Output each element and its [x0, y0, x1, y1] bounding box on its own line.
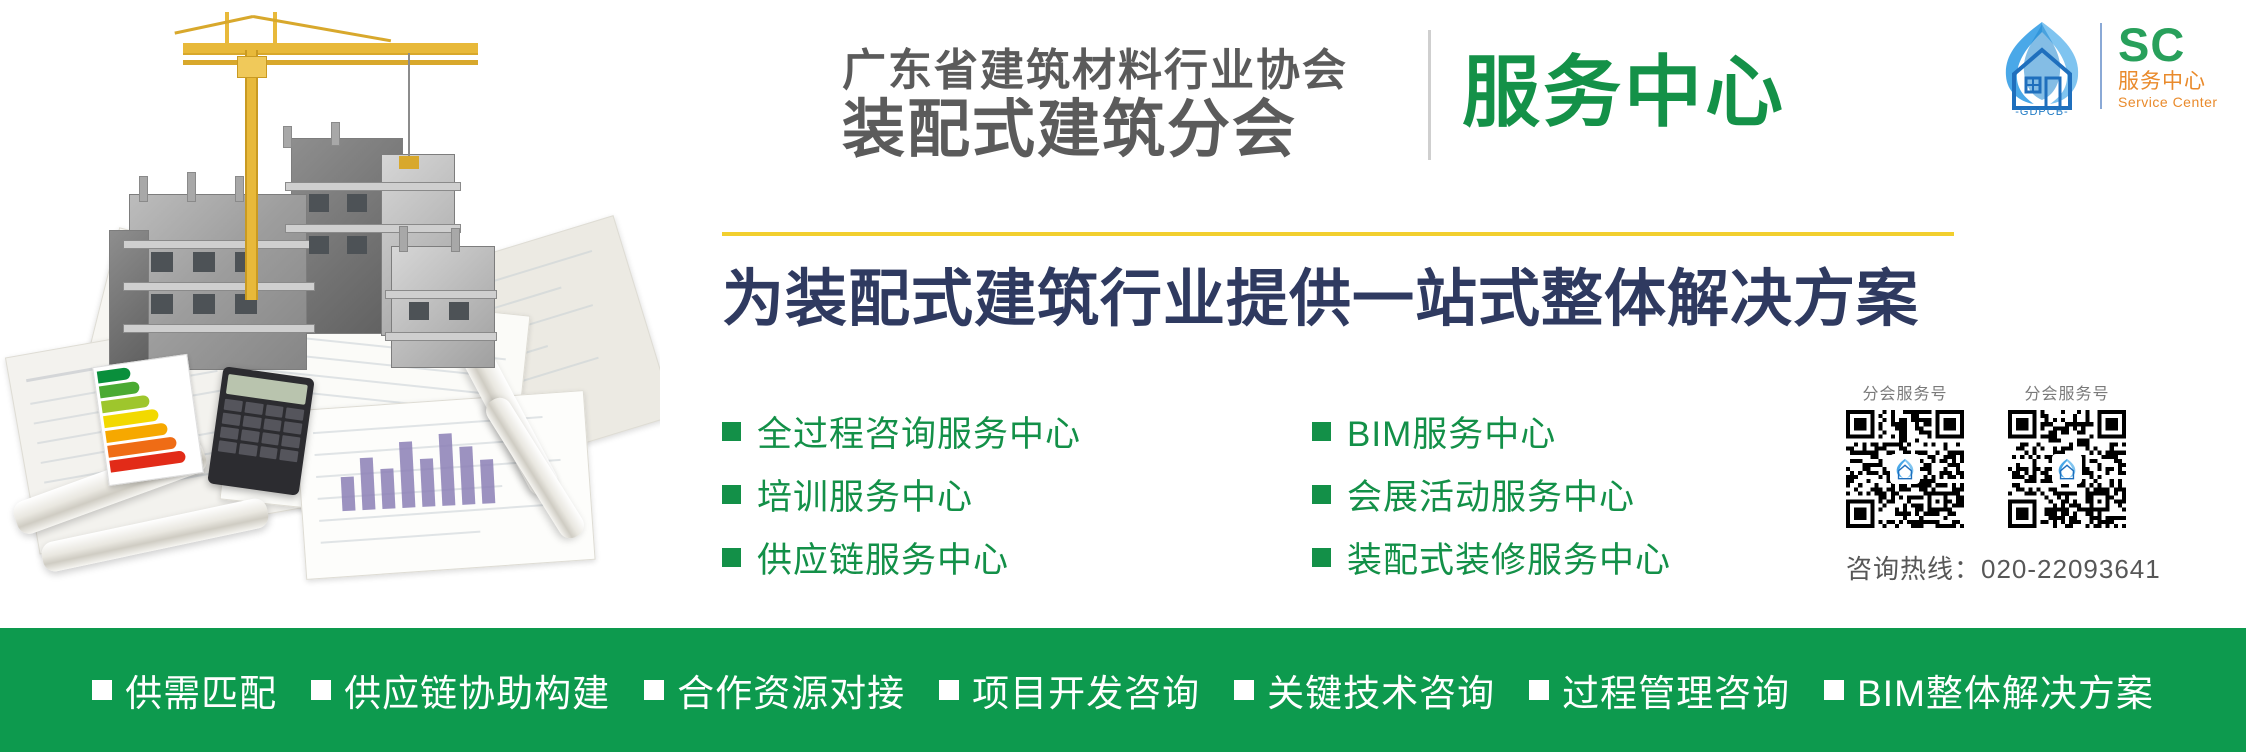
square-bullet-icon	[1824, 680, 1844, 700]
service-item[interactable]: 会展活动服务中心	[1312, 469, 1802, 520]
square-bullet-icon	[722, 422, 741, 441]
title-divider	[1428, 30, 1431, 160]
square-bullet-icon	[939, 680, 959, 700]
service-item-label: 培训服务中心	[757, 469, 973, 520]
keyword-label: 过程管理咨询	[1562, 663, 1790, 717]
service-center-list: 全过程咨询服务中心 BIM服务中心 培训服务中心 会展活动服务中心 供应链服务中…	[722, 400, 1802, 589]
qr-embedded-logo-icon	[1890, 454, 1920, 484]
sc-wordmark-block: SC 服务中心 Service Center	[2118, 23, 2218, 109]
sc-chinese-label: 服务中心	[2118, 71, 2218, 92]
association-name-line1: 广东省建筑材料行业协会	[842, 48, 1422, 94]
keyword-item[interactable]: 项目开发咨询	[939, 663, 1200, 717]
service-item-label: 装配式装修服务中心	[1347, 532, 1671, 583]
keyword-item[interactable]: 过程管理咨询	[1529, 663, 1790, 717]
qr-embedded-logo-icon	[2052, 454, 2082, 484]
service-item[interactable]: 供应链服务中心	[722, 532, 1312, 583]
service-item-label: 会展活动服务中心	[1347, 469, 1635, 520]
bottom-keyword-bar: 供需匹配 供应链协助构建 合作资源对接 项目开发咨询 关键技术咨询 过程管理咨询…	[0, 628, 2246, 752]
association-title: 广东省建筑材料行业协会 装配式建筑分会	[842, 48, 1422, 164]
square-bullet-icon	[1529, 680, 1549, 700]
gdpcb-house-logo-icon: -GDPCB-	[1990, 16, 2094, 116]
service-item-label: BIM服务中心	[1347, 406, 1556, 457]
service-center-heading: 服务中心	[1462, 48, 1786, 138]
service-item-label: 供应链服务中心	[757, 532, 1009, 583]
keyword-label: 供需匹配	[125, 663, 277, 717]
promo-banner: 广东省建筑材料行业协会 装配式建筑分会 服务中心 为装配式建筑行业提供一站式整体…	[0, 0, 2246, 752]
calculator	[207, 366, 315, 496]
keyword-item[interactable]: 关键技术咨询	[1234, 663, 1495, 717]
energy-rating-label	[92, 354, 204, 486]
service-item[interactable]: 装配式装修服务中心	[1312, 532, 1802, 583]
tower-crane	[165, 10, 505, 300]
square-bullet-icon	[1312, 422, 1331, 441]
qr-code-image[interactable]	[1846, 410, 1964, 528]
association-name-line2: 装配式建筑分会	[842, 96, 1422, 164]
qr-code-area: 分会服务号 分会服务号	[1846, 380, 2186, 528]
hotline-text: 咨询热线：020-22093641	[1846, 549, 2161, 586]
service-item[interactable]: 全过程咨询服务中心	[722, 406, 1312, 457]
square-bullet-icon	[1234, 680, 1254, 700]
square-bullet-icon	[644, 680, 664, 700]
keyword-label: 关键技术咨询	[1267, 663, 1495, 717]
mini-bar-chart	[338, 411, 503, 511]
service-item-label: 全过程咨询服务中心	[757, 406, 1081, 457]
square-bullet-icon	[1312, 485, 1331, 504]
qr-code-cell[interactable]: 分会服务号	[1846, 380, 1964, 528]
square-bullet-icon	[311, 680, 331, 700]
square-bullet-icon	[722, 485, 741, 504]
service-item[interactable]: 培训服务中心	[722, 469, 1312, 520]
keyword-label: BIM整体解决方案	[1857, 663, 2154, 717]
keyword-label: 合作资源对接	[677, 663, 905, 717]
square-bullet-icon	[1312, 548, 1331, 567]
logo-separator	[2100, 23, 2102, 109]
square-bullet-icon	[92, 680, 112, 700]
keyword-item[interactable]: 合作资源对接	[644, 663, 905, 717]
qr-code-image[interactable]	[2008, 410, 2126, 528]
keyword-label: 供应链协助构建	[344, 663, 610, 717]
qr-code-cell[interactable]: 分会服务号	[2008, 380, 2126, 528]
keyword-label: 项目开发咨询	[972, 663, 1200, 717]
sc-english-label: Service Center	[2118, 95, 2218, 109]
keyword-item[interactable]: BIM整体解决方案	[1824, 663, 2154, 717]
hero-photo	[0, 0, 660, 628]
gdpcb-wordmark: -GDPCB-	[1990, 106, 2094, 118]
sc-letters: SC	[2118, 23, 2218, 68]
tagline: 为装配式建筑行业提供一站式整体解决方案	[722, 248, 1919, 338]
qr-caption: 分会服务号	[2008, 380, 2126, 404]
accent-divider	[722, 232, 1954, 236]
service-item[interactable]: BIM服务中心	[1312, 406, 1802, 457]
keyword-item[interactable]: 供应链协助构建	[311, 663, 610, 717]
qr-caption: 分会服务号	[1846, 380, 1964, 404]
square-bullet-icon	[722, 548, 741, 567]
keyword-item[interactable]: 供需匹配	[92, 663, 277, 717]
logo-lockup: -GDPCB- SC 服务中心 Service Center	[1990, 14, 2240, 118]
